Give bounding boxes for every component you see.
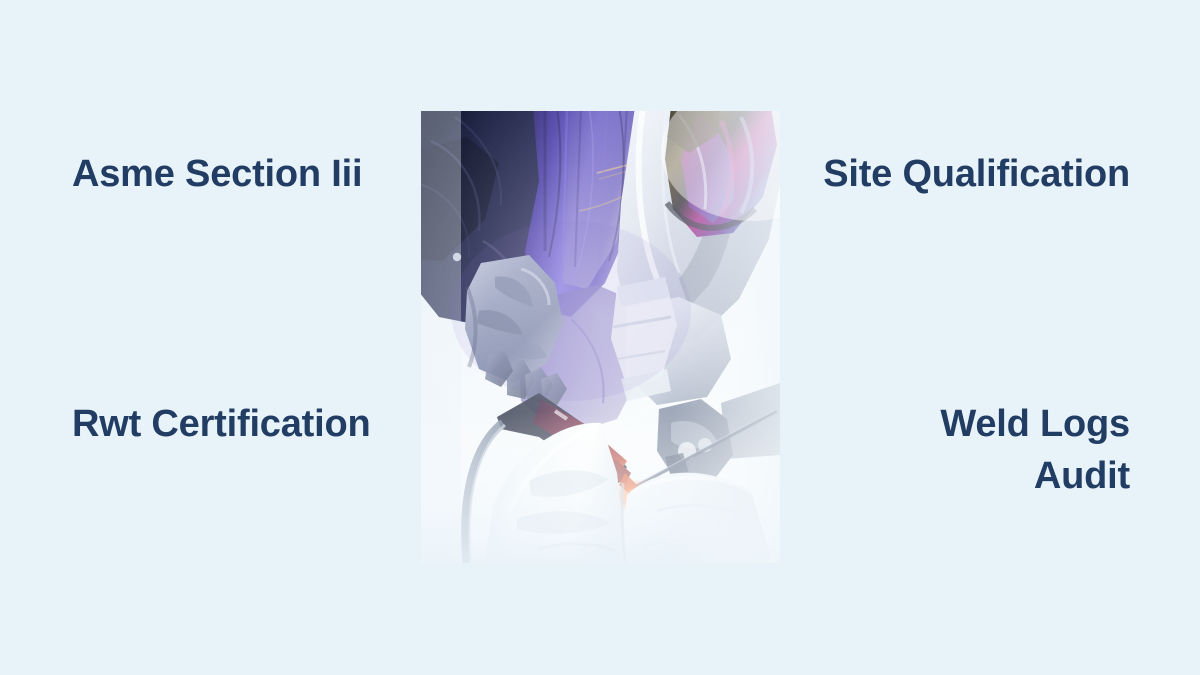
label-bottom-right: Weld Logs Audit [930,398,1130,502]
label-top-right: Site Qualification [800,148,1130,200]
slide-canvas: Asme Section Iii Site Qualification Rwt … [0,0,1200,675]
label-bottom-left: Rwt Certification [72,398,402,450]
label-top-left: Asme Section Iii [72,148,382,200]
welding-photo [421,111,780,563]
